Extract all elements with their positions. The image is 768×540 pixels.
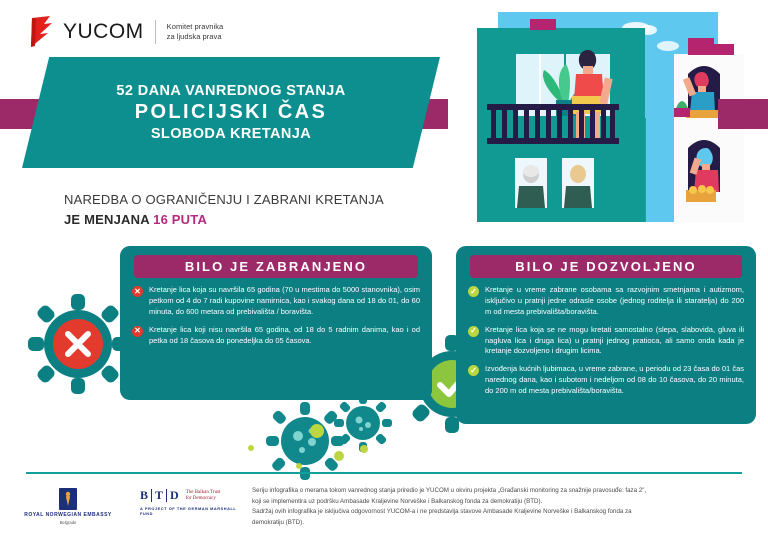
btd-logo: B T D The Balkan Trust for Democracy A P… <box>140 488 250 516</box>
panel-allowed: BILO JE DOZVOLJENO ✓ Kretanje u vreme za… <box>456 246 756 424</box>
list-item: ✓ Izvođenja kućnih ljubimaca, u vreme za… <box>468 364 744 397</box>
footer-disclaimer-line-2: koji se implementira uz podršku Ambasade… <box>252 497 752 508</box>
check-marker-icon: ✓ <box>468 326 479 337</box>
panel-forbidden-header-label: BILO JE ZABRANJENO <box>185 259 367 274</box>
panel-forbidden-header: BILO JE ZABRANJENO <box>134 255 418 278</box>
list-item-text: Kretanje lica koja se ne mogu kretati sa… <box>485 325 744 358</box>
decorative-dot-2 <box>334 448 344 458</box>
x-marker-icon: ✕ <box>132 286 143 297</box>
logo-subtitle-line1: Komitet pravnika <box>167 22 224 32</box>
btd-letter-b: B <box>140 488 148 503</box>
yucom-logo: YUCOM Komitet pravnika za ljudska prava <box>28 16 223 48</box>
panel-allowed-header-label: BILO JE DOZVOLJENO <box>515 259 697 274</box>
royal-norwegian-embassy-logo: ROYAL NORWEGIAN EMBASSY Belgrade <box>18 488 118 525</box>
decorative-dot-3 <box>360 440 368 448</box>
decorative-dot-5 <box>296 456 302 462</box>
list-item-text: Kretanje u vreme zabrane osobama sa razv… <box>485 285 744 318</box>
footer-disclaimer: Seriju infografika o merama tokom vanred… <box>252 486 752 529</box>
list-item: ✕ Kretanje lica koja su navršila 65 godi… <box>132 285 420 318</box>
yucom-logo-name: YUCOM <box>63 20 144 44</box>
check-marker-icon: ✓ <box>468 286 479 297</box>
banner-magenta-band-right <box>718 99 768 129</box>
list-item: ✓ Kretanje u vreme zabrane osobama sa ra… <box>468 285 744 318</box>
banner-text: 52 DANA VANREDNOG STANJA POLICIJSKI ČAS … <box>22 57 440 168</box>
btd-letter-t: T <box>155 488 163 503</box>
yucom-flag-icon <box>28 16 54 48</box>
footer-divider <box>26 472 742 474</box>
btd-bar-1 <box>151 489 152 502</box>
norwegian-crest-icon <box>59 488 77 510</box>
embassy-logo-title: ROYAL NORWEGIAN EMBASSY <box>18 512 118 518</box>
subtitle-line-2: JE MENJANA 16 PUTA <box>64 210 384 230</box>
btd-letter-d: D <box>170 488 179 503</box>
panel-allowed-header: BILO JE DOZVOLJENO <box>470 255 742 278</box>
subtitle-line-2-label: JE MENJANA <box>64 212 149 227</box>
footer-disclaimer-line-1: Seriju infografika o merama tokom vanred… <box>252 486 752 497</box>
infographic-page: YUCOM Komitet pravnika za ljudska prava <box>0 0 768 540</box>
btd-bar-2 <box>166 489 167 502</box>
banner: 52 DANA VANREDNOG STANJA POLICIJSKI ČAS … <box>0 57 768 172</box>
subtitle-block: NAREDBA O OGRANIČENJU I ZABRANI KRETANJA… <box>64 190 384 229</box>
amendment-count: 16 PUTA <box>153 212 207 227</box>
footer: ROYAL NORWEGIAN EMBASSY Belgrade B T D T… <box>0 484 768 540</box>
btd-tagline: The Balkan Trust for Democracy <box>186 490 221 502</box>
btd-tagline-line1: The Balkan Trust <box>186 490 221 495</box>
footer-disclaimer-line-4: demokratiju (BTD). <box>252 518 752 529</box>
btd-subline: A PROJECT OF THE GERMAN MARSHALL FUND <box>140 506 250 516</box>
list-item: ✓ Kretanje lica koja se ne mogu kretati … <box>468 325 744 358</box>
footer-disclaimer-line-3: Sadržaj ovih infografika je isključiva o… <box>252 507 752 518</box>
list-item: ✕ Kretanje lica koji nisu navršila 65 go… <box>132 325 420 347</box>
footer-logos: ROYAL NORWEGIAN EMBASSY Belgrade B T D T… <box>18 488 250 525</box>
panel-forbidden: BILO JE ZABRANJENO ✕ Kretanje lica koja … <box>120 246 432 400</box>
embassy-logo-city: Belgrade <box>18 520 118 525</box>
logo-divider <box>155 20 156 44</box>
list-item-text: Kretanje lica koji nisu navršila 65 godi… <box>149 325 420 347</box>
btd-logo-row: B T D The Balkan Trust for Democracy <box>140 488 250 503</box>
x-mark-virus-icon <box>22 288 134 400</box>
decorative-dot-4 <box>248 438 254 444</box>
btd-tagline-line2: for Democracy <box>186 496 216 501</box>
list-item-text: Kretanje lica koja su navršila 65 godina… <box>149 285 420 318</box>
list-item-text: Izvođenja kućnih ljubimaca, u vreme zabr… <box>485 364 744 397</box>
banner-line-1: 52 DANA VANREDNOG STANJA <box>116 83 345 99</box>
banner-line-3: SLOBODA KRETANJA <box>151 126 311 142</box>
panel-allowed-bullets: ✓ Kretanje u vreme zabrane osobama sa ra… <box>456 278 756 397</box>
decorative-dot-1 <box>310 424 324 438</box>
logo-subtitle-line2: za ljudska prava <box>167 32 224 42</box>
panel-forbidden-bullets: ✕ Kretanje lica koja su navršila 65 godi… <box>120 278 432 346</box>
subtitle-line-1: NAREDBA O OGRANIČENJU I ZABRANI KRETANJA <box>64 190 384 210</box>
check-marker-icon: ✓ <box>468 365 479 376</box>
yucom-logo-subtitle: Komitet pravnika za ljudska prava <box>167 22 224 43</box>
x-marker-icon: ✕ <box>132 326 143 337</box>
banner-line-2: POLICIJSKI ČAS <box>135 100 328 125</box>
